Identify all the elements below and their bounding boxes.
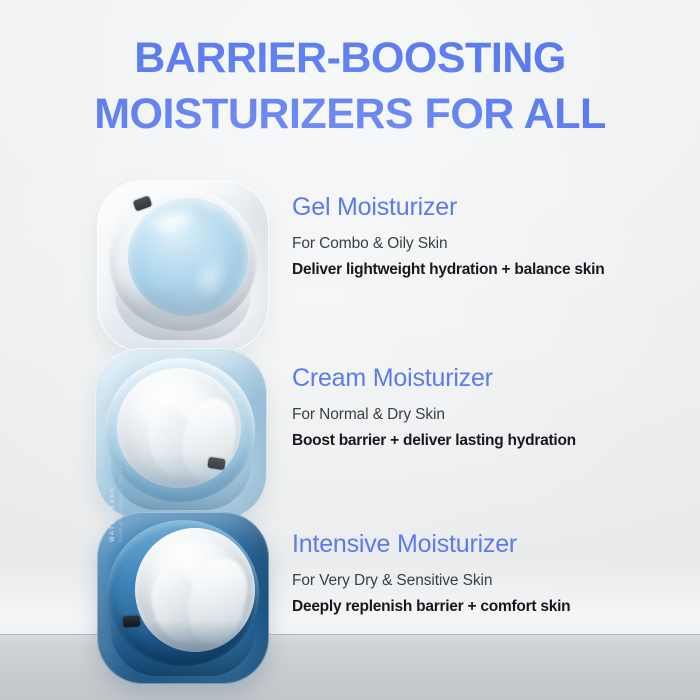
promo-banner: BARRIER-BOOSTING MOISTURIZERS FOR ALL bbox=[0, 0, 700, 700]
product-benefit-cream: Boost barrier + deliver lasting hydratio… bbox=[292, 430, 642, 452]
page-title: BARRIER-BOOSTING MOISTURIZERS FOR ALL bbox=[0, 30, 700, 142]
jar-side-label-brand: WATER BANK bbox=[110, 486, 116, 542]
product-benefit-intensive: Deeply replenish barrier + comfort skin bbox=[292, 596, 642, 618]
product-copy-gel: Gel Moisturizer For Combo & Oily Skin De… bbox=[292, 192, 642, 281]
jar-reflection-cream bbox=[108, 484, 258, 510]
product-copy-intensive: Intensive Moisturizer For Very Dry & Sen… bbox=[292, 529, 642, 618]
product-benefit-gel: Deliver lightweight hydration + balance … bbox=[292, 259, 642, 281]
product-jar-intensive: WATER BANK BLUE HYALURONIC CREAM bbox=[97, 512, 269, 684]
product-skin-type-intensive: For Very Dry & Sensitive Skin bbox=[292, 570, 642, 591]
product-skin-type-gel: For Combo & Oily Skin bbox=[292, 233, 642, 254]
jar-side-label-sub: BLUE HYALURONIC CREAM bbox=[117, 472, 125, 542]
product-skin-type-cream: For Normal & Dry Skin bbox=[292, 404, 642, 425]
product-title-cream: Cream Moisturizer bbox=[292, 363, 642, 393]
headline-line-2: MOISTURIZERS FOR ALL bbox=[0, 86, 700, 142]
product-title-gel: Gel Moisturizer bbox=[292, 192, 642, 222]
product-title-intensive: Intensive Moisturizer bbox=[292, 529, 642, 559]
jar-reflection-gel bbox=[110, 318, 258, 344]
product-copy-cream: Cream Moisturizer For Normal & Dry Skin … bbox=[292, 363, 642, 452]
headline-line-1: BARRIER-BOOSTING bbox=[134, 34, 566, 82]
jar-side-label: WATER BANK BLUE HYALURONIC CREAM bbox=[109, 472, 125, 542]
jar-base-shade-intensive bbox=[111, 620, 255, 676]
